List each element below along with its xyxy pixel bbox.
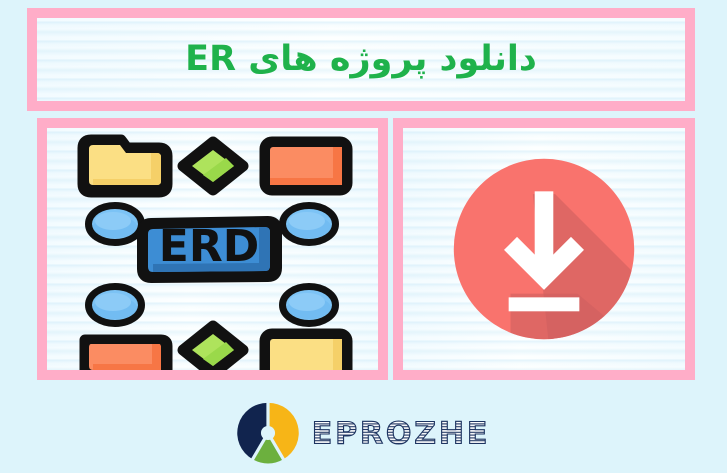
ellipse-shape-upper-right	[284, 207, 334, 241]
brand-footer: EPROZHE	[0, 392, 727, 473]
erd-diagram-panel: ERD	[37, 118, 388, 380]
rectangle-shape-bottom-right	[265, 334, 347, 370]
diamond-shape-top-center	[183, 142, 243, 190]
rectangle-shape-bottom-left	[85, 340, 167, 370]
page-title: دانلود پروژه های ER	[185, 40, 537, 79]
eprozhe-wordmark-text: EPROZHE	[311, 416, 490, 451]
ellipse-shape-lower-left	[90, 288, 140, 322]
ellipse-shape-upper-left	[90, 207, 140, 241]
logo-center-dot	[260, 425, 274, 439]
ellipse-shape-lower-right	[284, 288, 334, 322]
folder-shape-top-left	[83, 140, 167, 192]
rectangle-shape-top-right	[265, 142, 347, 190]
header-panel: دانلود پروژه های ER	[27, 8, 695, 111]
download-icon[interactable]	[451, 156, 637, 342]
eprozhe-wordmark: EPROZHE	[310, 411, 492, 455]
download-panel-inner	[403, 128, 685, 370]
eprozhe-logo-icon	[236, 401, 300, 465]
erd-diagram-illustration: ERD	[47, 128, 378, 370]
diamond-shape-bottom-center	[183, 326, 243, 370]
erd-center-node: ERD	[143, 221, 276, 277]
download-panel	[393, 118, 695, 380]
erd-center-label: ERD	[159, 221, 259, 272]
erd-diagram-panel-inner: ERD	[47, 128, 378, 370]
header-panel-inner: دانلود پروژه های ER	[37, 18, 685, 101]
